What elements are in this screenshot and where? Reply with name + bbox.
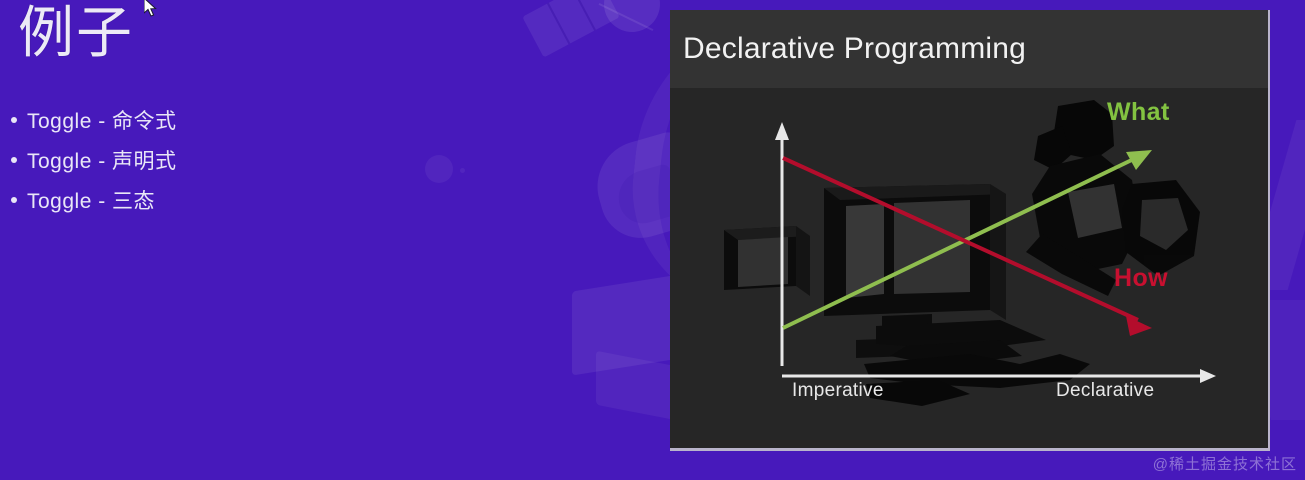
mouse-pointer-icon [144,0,158,18]
list-item: Toggle - 声明式 [8,140,177,180]
bullet-dot-icon [11,117,17,123]
series-label-what: What [1107,98,1170,127]
bullet-dot-icon [11,157,17,163]
satellite-stem-shape [599,3,654,31]
list-item: Toggle - 三态 [8,180,177,220]
list-item-label: Toggle - 三态 [27,185,155,215]
slide-panel: Declarative Programming [670,10,1270,451]
satellite-body-shape [604,0,660,32]
declarative-chart [670,88,1268,448]
x-tick-label-declarative: Declarative [1056,380,1154,402]
how-arrow-icon [1126,316,1152,336]
screen-root: 例子 Toggle - 命令式 Toggle - 声明式 Toggle - 三态… [0,0,1305,480]
slide-panel-title: Declarative Programming [683,32,1026,66]
slide-panel-header: Declarative Programming [670,10,1268,88]
x-axis-arrow-icon [1200,369,1216,383]
series-label-how: How [1114,264,1168,293]
circle-shape [425,155,453,183]
list-item-label: Toggle - 命令式 [27,105,177,135]
slide-panel-body: Imperative Declarative What How [670,88,1268,448]
bullet-list: Toggle - 命令式 Toggle - 声明式 Toggle - 三态 [8,100,177,220]
bullet-dot-icon [11,197,17,203]
watermark: @稀土掘金技术社区 [1153,453,1297,474]
x-tick-label-imperative: Imperative [792,380,884,402]
circle-small-shape [460,168,465,173]
person-at-computer-illustration [724,100,1200,406]
list-item-label: Toggle - 声明式 [27,145,177,175]
satellite-panel-shape [522,0,620,57]
list-item: Toggle - 命令式 [8,100,177,140]
y-axis-arrow-icon [775,122,789,140]
page-title: 例子 [18,2,134,64]
